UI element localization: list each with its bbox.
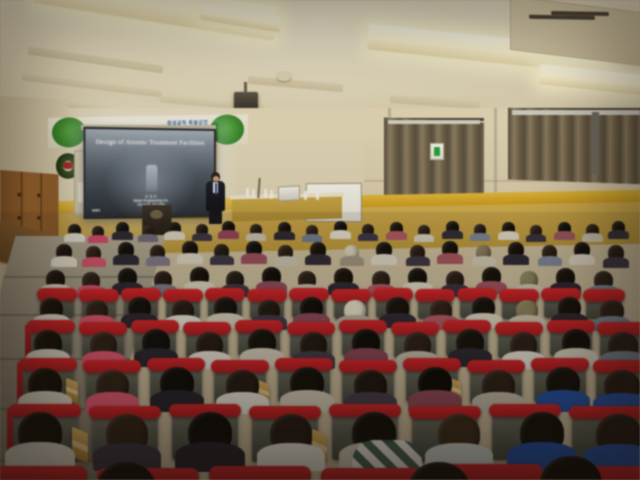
audience-member xyxy=(596,414,640,456)
audience-member xyxy=(56,244,72,260)
audience-member xyxy=(298,271,316,289)
seat xyxy=(324,474,420,480)
audience-member xyxy=(608,332,638,359)
bottle xyxy=(264,189,267,198)
audience-member xyxy=(278,222,291,235)
audience-member xyxy=(28,368,62,400)
audience-member xyxy=(540,456,602,480)
audience-member xyxy=(446,221,459,234)
audience-member xyxy=(510,332,537,358)
audience-member xyxy=(226,370,259,401)
audience-member xyxy=(612,221,625,234)
audience-member xyxy=(258,300,280,321)
exit-sign-icon xyxy=(430,143,444,160)
audience-member xyxy=(558,297,581,319)
window-gap xyxy=(388,120,480,124)
slide-title: Design of Arsenic Treatment Facilities xyxy=(85,138,214,147)
audience-member xyxy=(482,267,501,286)
audience-member xyxy=(418,367,452,399)
audience-member xyxy=(248,329,276,356)
bottle xyxy=(316,191,319,200)
bottle xyxy=(270,190,273,199)
audience-member xyxy=(542,245,557,260)
audience-member xyxy=(118,268,137,287)
audience-member xyxy=(142,225,154,237)
audience-member xyxy=(418,225,430,237)
audience-member xyxy=(456,329,484,356)
audience-member xyxy=(546,367,580,399)
audience-member xyxy=(604,370,640,402)
audience-member xyxy=(562,329,590,356)
audience-member xyxy=(68,224,81,237)
audience-member xyxy=(306,225,318,237)
audience-member xyxy=(128,297,151,319)
audience-member xyxy=(408,268,427,287)
audience-member xyxy=(270,414,312,454)
audience-member xyxy=(172,300,194,321)
audience-member xyxy=(334,268,353,287)
audience-member xyxy=(262,267,281,286)
audience-member xyxy=(556,268,575,287)
audience-member xyxy=(250,224,262,236)
audience-member xyxy=(92,226,104,238)
audience-member xyxy=(410,245,425,260)
audience-member xyxy=(142,329,170,356)
audience-member xyxy=(40,298,63,320)
audience-member xyxy=(90,332,117,358)
audience-member xyxy=(182,241,198,257)
audience-member xyxy=(86,246,101,261)
smoke-detector-icon xyxy=(277,72,291,81)
audience-member xyxy=(46,270,65,289)
audience-member xyxy=(196,224,208,236)
audience-member xyxy=(150,245,165,260)
window-curtain xyxy=(508,108,640,185)
audience-member xyxy=(482,370,515,401)
audience-member xyxy=(476,245,491,260)
audience-member xyxy=(214,297,237,319)
audience-member xyxy=(188,412,232,454)
audience-member xyxy=(118,242,134,258)
audience-member xyxy=(352,329,380,356)
audience-member xyxy=(474,224,486,236)
audience-member xyxy=(106,414,148,454)
audience-member xyxy=(290,367,324,399)
audience-member xyxy=(154,271,172,289)
audience-seating xyxy=(0,212,640,480)
audience-member xyxy=(190,267,209,286)
seat xyxy=(212,472,308,480)
audience-member xyxy=(508,242,524,258)
audience-member xyxy=(530,225,542,237)
audience-member xyxy=(408,462,470,480)
audience-member xyxy=(386,297,409,319)
audience-member xyxy=(82,272,100,290)
audience-member xyxy=(34,330,62,357)
audience-member xyxy=(96,462,156,480)
audience-member xyxy=(502,222,515,235)
audience-member xyxy=(390,222,403,235)
bottle xyxy=(304,191,307,200)
audience-member xyxy=(246,241,262,257)
laptop-icon xyxy=(278,185,300,201)
audience-member xyxy=(300,297,323,319)
audience-member xyxy=(558,222,571,235)
presentation-slide: Design of Arsenic Treatment Facilities U… xyxy=(85,129,214,217)
audience-member xyxy=(226,271,244,289)
audience-member xyxy=(520,412,564,454)
audience-member xyxy=(344,245,359,260)
seat xyxy=(0,472,84,480)
window-gap xyxy=(512,110,640,115)
audience-member xyxy=(354,370,387,401)
audience-member xyxy=(18,412,62,454)
audience-member xyxy=(362,224,374,236)
audience-member xyxy=(160,367,194,399)
audience-member xyxy=(446,271,464,289)
audience-member xyxy=(586,224,599,237)
audience-member xyxy=(516,300,538,321)
audience-member xyxy=(168,222,181,235)
audience-member xyxy=(608,245,624,261)
lecture-hall-photo: 환경공학 특별강연 초청강연회 개최 Design of Arsenic Tre… xyxy=(0,0,640,480)
audience-member xyxy=(600,300,624,322)
audience-member xyxy=(442,241,458,257)
bottle xyxy=(252,189,255,198)
bottle xyxy=(246,188,249,197)
audience-member xyxy=(334,221,347,234)
audience-member xyxy=(222,221,235,234)
audience-member xyxy=(520,271,538,289)
audience-member xyxy=(86,300,108,321)
audience-member xyxy=(594,271,613,290)
audience-member xyxy=(196,332,223,358)
audience-member xyxy=(310,242,326,258)
banner-green-circle xyxy=(52,117,86,148)
audience-member xyxy=(438,414,480,454)
audience-member xyxy=(278,245,293,260)
audience-member xyxy=(372,271,390,289)
slide-figure xyxy=(146,165,157,192)
audience-member xyxy=(472,297,495,319)
audience-member xyxy=(116,222,129,235)
audience-member xyxy=(430,300,452,321)
audience-member xyxy=(214,244,229,259)
audience-member xyxy=(376,242,392,258)
audience-member xyxy=(300,332,327,358)
audience-member xyxy=(96,370,129,401)
audience-member xyxy=(344,300,366,321)
audience-member xyxy=(404,332,431,358)
window-gap xyxy=(592,112,599,174)
audience-member xyxy=(574,242,590,258)
